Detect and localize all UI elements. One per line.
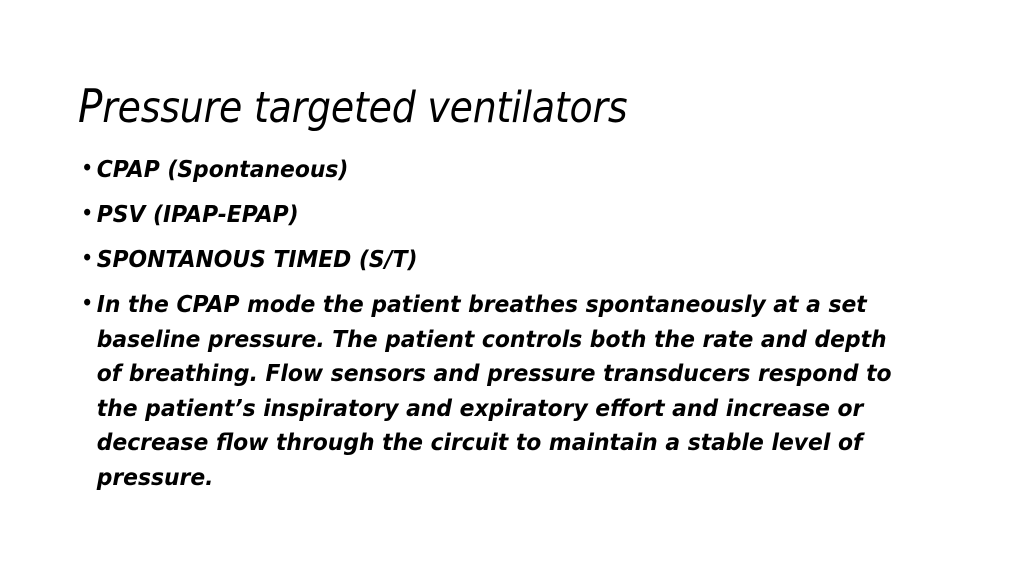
list-item: CPAP (Spontaneous) bbox=[80, 152, 898, 187]
title-first-letter: P bbox=[78, 79, 102, 133]
list-item: SPONTANOUS TIMED (S/T) bbox=[80, 242, 898, 277]
title-remainder: ressure targeted ventilators bbox=[102, 83, 627, 133]
page-title: Pressure targeted ventilators bbox=[78, 81, 852, 133]
list-item: PSV (IPAP-EPAP) bbox=[80, 197, 898, 232]
list-item: In the CPAP mode the patient breathes sp… bbox=[80, 287, 898, 494]
bullet-list: CPAP (Spontaneous) PSV (IPAP-EPAP) SPONT… bbox=[80, 152, 960, 494]
slide-canvas: Pressure targeted ventilators CPAP (Spon… bbox=[0, 0, 1024, 576]
